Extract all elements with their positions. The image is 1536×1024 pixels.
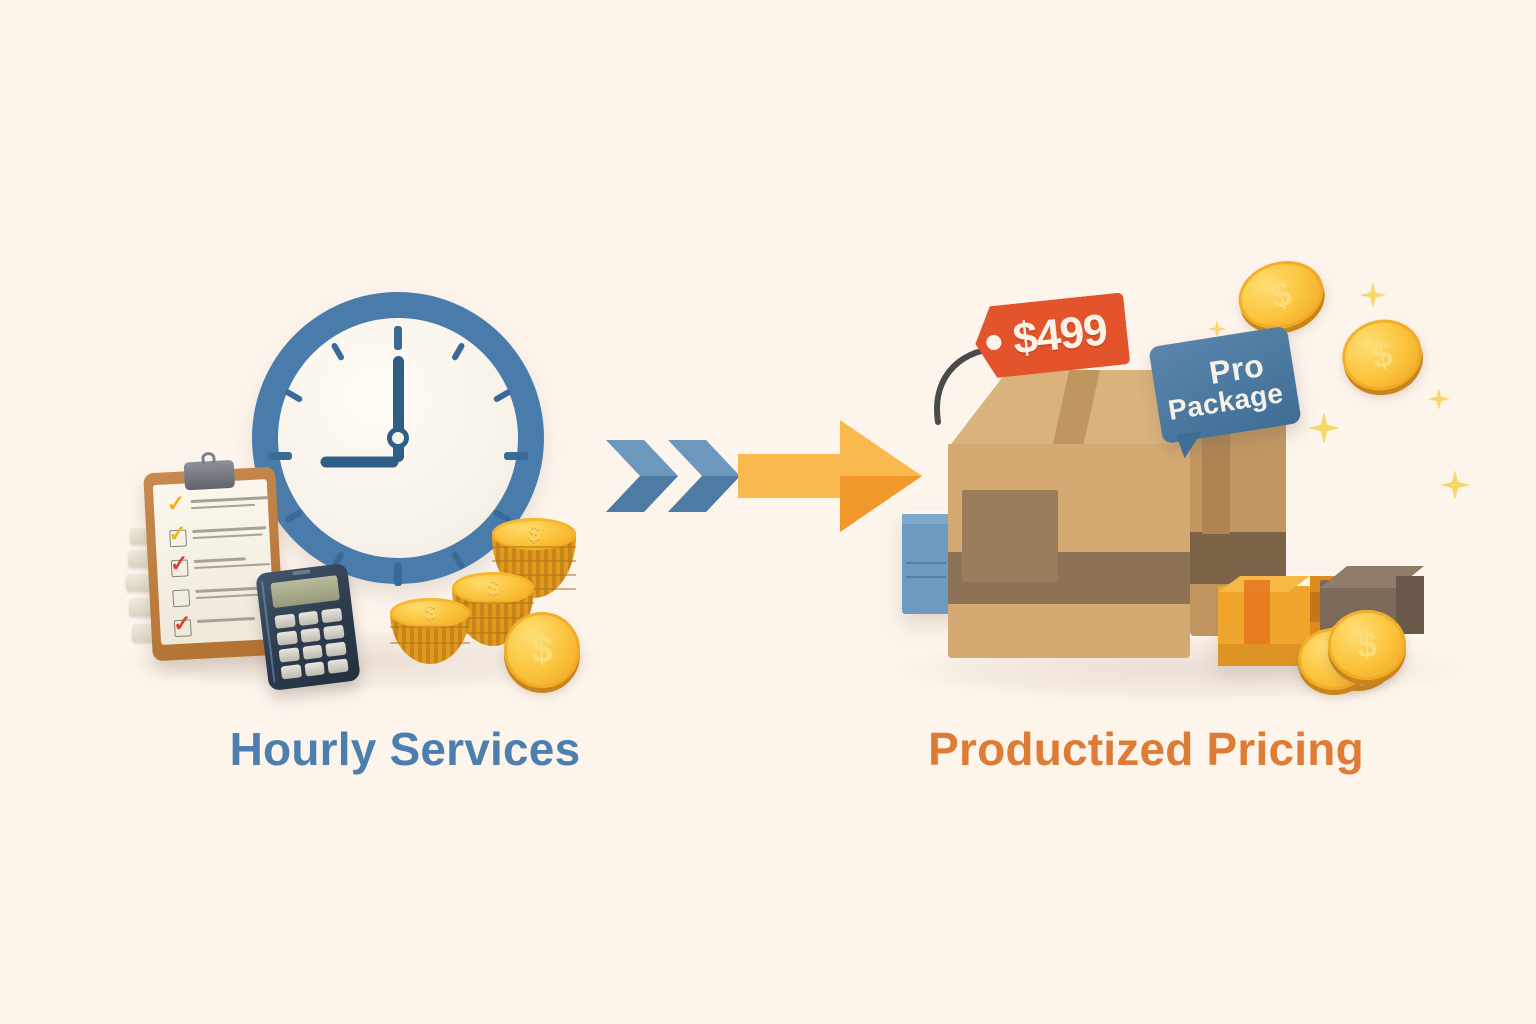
coin-stacks: $ $ $ $ [380,500,610,690]
calculator [255,563,361,691]
calculator-key [323,625,344,640]
sparkle-icon [1308,412,1340,444]
right-caption: Productized Pricing [928,722,1364,776]
checklist-text-lines [191,496,273,513]
check-icon: ✓ [166,492,186,515]
clipboard-paper: ✓ ✓ ✓ ✓ [153,479,275,645]
calculator-body [255,563,361,691]
sparkle-icon [1428,388,1450,410]
illustration-canvas: ✓ ✓ ✓ ✓ [0,0,1536,1024]
sparkle-icon [1360,282,1386,308]
calculator-key [304,661,325,676]
calculator-key [274,614,295,629]
calculator-key [279,647,300,662]
clock-hour-hand [320,457,398,468]
check-icon: ✓ [169,552,189,575]
clock-center-pin [387,427,409,449]
grounded-coin-front: $ [1328,610,1406,680]
floating-coin: $ [1335,311,1430,398]
calculator-key [302,644,323,659]
checklist-row: ✓ [168,493,273,520]
coin-stack-front: $ [390,598,470,672]
sparkle-icon [1440,470,1470,500]
calculator-key [326,642,347,657]
calculator-key [300,628,321,643]
calculator-key [298,611,319,626]
calculator-key [328,658,349,673]
calculator-key [321,608,342,623]
checklist-row: ✓ [169,523,274,550]
left-caption: Hourly Services [230,722,581,776]
checklist-text-lines [192,526,274,543]
check-icon: ✓ [173,612,193,635]
chevron-icon [606,440,678,512]
calculator-key [281,664,302,679]
pro-package-line-2: Package [1166,379,1285,425]
clipboard-clamp [184,460,235,491]
calculator-screen [270,575,340,608]
price-tag-label: $499 [972,292,1131,379]
checklist-text-lines [194,556,276,573]
checkbox [172,589,190,607]
price-tag: $499 [972,292,1131,379]
calculator-keypad [274,608,348,680]
calculator-key [276,630,297,645]
calculator-notch [292,569,310,575]
chevron-icon [668,440,740,512]
check-icon: ✓ [168,522,188,545]
hourly-services-scene: ✓ ✓ ✓ ✓ [0,0,640,720]
leaning-coin: $ [504,612,580,688]
productized-pricing-scene: $ $ $ $499 [880,240,1500,710]
